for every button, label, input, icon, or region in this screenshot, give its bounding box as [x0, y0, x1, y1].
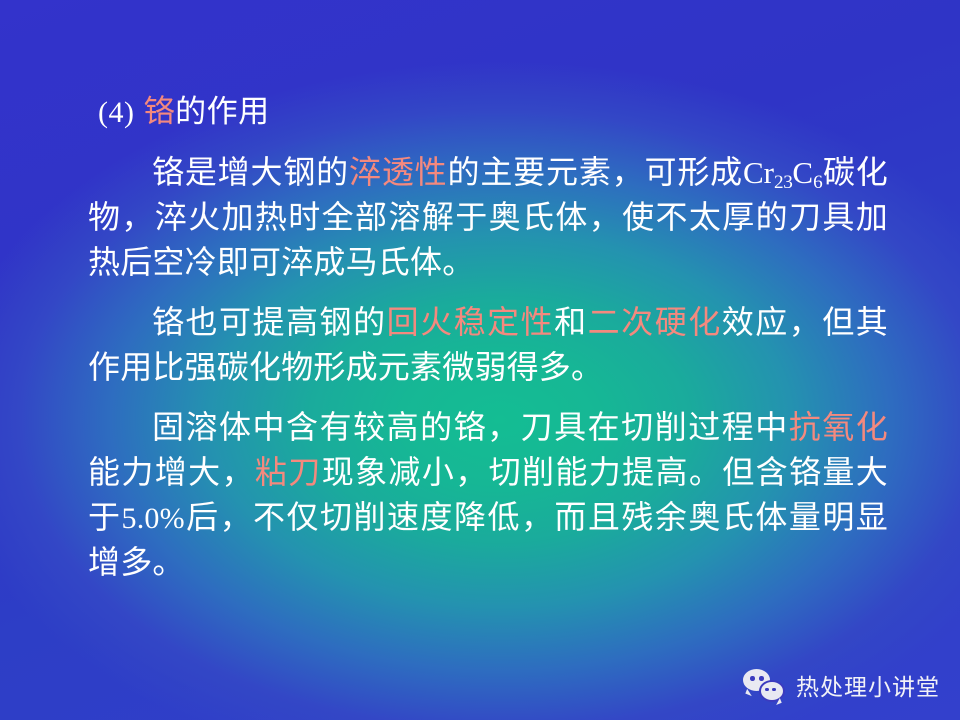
- p1-seg-0: 铬是增大钢的: [152, 154, 349, 190]
- p2-seg-3-highlight: 二次硬化: [588, 304, 722, 340]
- heading-number: (4): [98, 96, 134, 129]
- formula-base-2: C: [792, 155, 813, 190]
- p3-seg-0: 固溶体中含有较高的铬，刀具在切削过程中: [152, 409, 789, 445]
- wechat-bubble-small-dot-1: [765, 688, 769, 692]
- p2-seg-1-highlight: 回火稳定性: [387, 304, 555, 340]
- paragraph-2: 铬也可提高钢的回火稳定性和二次硬化效应，但其作用比强碳化物形成元素微弱得多。: [88, 300, 888, 390]
- formula-base-1: Cr: [743, 155, 774, 190]
- formula-sub-1: 23: [774, 172, 792, 193]
- chromium-percentage-value: 5.0%: [122, 502, 185, 535]
- formula-cr23c6: Cr23C6: [743, 155, 822, 190]
- wechat-icon: [743, 668, 785, 702]
- watermark: 热处理小讲堂: [743, 668, 940, 702]
- paragraph-3: 固溶体中含有较高的铬，刀具在切削过程中抗氧化能力增大，粘刀现象减小，切削能力提高…: [88, 405, 888, 585]
- slide-body: (4) 铬的作用 铬是增大钢的淬透性的主要元素，可形成Cr23C6碳化物，淬火加…: [88, 92, 888, 585]
- formula-sub-2: 6: [813, 172, 822, 193]
- p3-seg-6: 后，不仅切削速度降低，而且残余奥氏体量明显增多。: [88, 499, 888, 580]
- p3-seg-3-highlight: 粘刀: [255, 454, 322, 490]
- p3-seg-2: 能力增大，: [88, 454, 255, 490]
- wechat-bubble-small-dot-2: [772, 688, 776, 692]
- p1-seg-1-highlight: 淬透性: [349, 154, 448, 190]
- p1-seg-2: 的主要元素，可形成: [448, 154, 743, 190]
- p3-seg-1-highlight: 抗氧化: [789, 409, 888, 445]
- wechat-bubble-large-dot-1: [750, 676, 755, 681]
- wechat-bubble-small: [759, 680, 785, 702]
- wechat-bubble-large-dot-2: [759, 676, 764, 681]
- page-title: (4) 铬的作用: [98, 92, 888, 132]
- p2-seg-0: 铬也可提高钢的: [152, 304, 387, 340]
- paragraph-1: 铬是增大钢的淬透性的主要元素，可形成Cr23C6碳化物，淬火加热时全部溶解于奥氏…: [88, 150, 888, 285]
- heading-highlight: 铬: [144, 94, 176, 129]
- watermark-label: 热处理小讲堂: [796, 668, 940, 702]
- p2-seg-2: 和: [554, 304, 588, 340]
- slide-canvas: (4) 铬的作用 铬是增大钢的淬透性的主要元素，可形成Cr23C6碳化物，淬火加…: [0, 0, 960, 720]
- heading-rest: 的作用: [175, 94, 270, 129]
